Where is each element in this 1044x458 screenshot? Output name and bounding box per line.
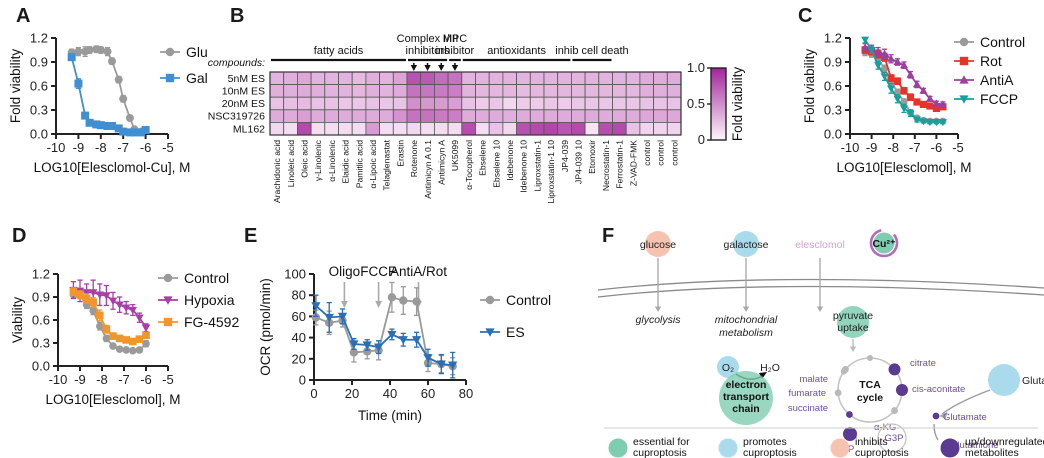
fumarate-label: fumarate bbox=[789, 388, 827, 399]
data-point bbox=[960, 57, 968, 65]
legend-label-line2: cuproptosis bbox=[743, 447, 797, 458]
compounds-label: compounds: bbox=[208, 57, 265, 69]
annotation-label: Oligo bbox=[329, 264, 361, 279]
heatmap-cell bbox=[421, 72, 435, 85]
heatmap-cell bbox=[544, 110, 558, 123]
legend-label: Control bbox=[980, 34, 1025, 50]
heatmap-cell bbox=[380, 122, 394, 135]
svg-text:-8: -8 bbox=[96, 372, 108, 387]
heatmap-cell bbox=[284, 72, 298, 85]
legend-swatch bbox=[609, 439, 628, 458]
heatmap-row-label: 5nM ES bbox=[228, 73, 265, 85]
heatmap-cell bbox=[667, 72, 681, 85]
data-point bbox=[136, 346, 144, 354]
svg-text:40: 40 bbox=[292, 330, 306, 345]
svg-text:-7: -7 bbox=[117, 140, 129, 155]
heatmap-cell bbox=[339, 85, 353, 98]
heatmap-row-label: ML162 bbox=[233, 123, 265, 135]
glutamine-node bbox=[988, 364, 1020, 396]
heatmap-cell bbox=[640, 85, 654, 98]
heatmap-row-label: 20nM ES bbox=[222, 98, 265, 110]
heatmap-cell bbox=[517, 85, 531, 98]
data-point bbox=[960, 38, 968, 46]
heatmap-cell bbox=[476, 97, 490, 110]
panel-f-label: F bbox=[602, 226, 614, 246]
series-Control bbox=[862, 49, 947, 125]
heatmap-cell bbox=[393, 110, 407, 123]
series-line bbox=[316, 306, 453, 365]
heatmap-cell bbox=[325, 97, 339, 110]
o2-label: O₂ bbox=[722, 362, 734, 374]
heatmap-cell bbox=[640, 72, 654, 85]
data-point bbox=[412, 297, 420, 305]
svg-text:80: 80 bbox=[459, 386, 473, 401]
panel-c-chart: 0.00.30.60.91.2-10-9-8-7-6-5Fold viabili… bbox=[790, 0, 1044, 215]
heatmap-cell bbox=[421, 122, 435, 135]
heatmap-cell bbox=[654, 72, 668, 85]
column-arrowhead bbox=[438, 65, 444, 71]
glycolysis-label: glycolysis bbox=[636, 314, 682, 326]
heatmap-cell bbox=[476, 122, 490, 135]
heatmap-cell bbox=[626, 72, 640, 85]
heatmap-cell bbox=[517, 97, 531, 110]
heatmap-cell bbox=[270, 85, 284, 98]
heatmap-row-label: NSC319726 bbox=[208, 111, 265, 123]
heatmap-cell bbox=[448, 97, 462, 110]
svg-text:0.0: 0.0 bbox=[30, 127, 48, 142]
heatmap-cell bbox=[434, 85, 448, 98]
svg-text:60: 60 bbox=[421, 386, 435, 401]
glutamine-label: Glutamine bbox=[1022, 375, 1044, 387]
svg-text:-6: -6 bbox=[931, 140, 943, 155]
heatmap-cell bbox=[654, 110, 668, 123]
heatmap-cell bbox=[311, 97, 325, 110]
group-label: fatty acids bbox=[314, 45, 364, 57]
panel-c: C 0.00.30.60.91.2-10-9-8-7-6-5Fold viabi… bbox=[790, 0, 1044, 215]
data-point bbox=[166, 74, 174, 82]
svg-text:-6: -6 bbox=[140, 372, 152, 387]
svg-text:-10: -10 bbox=[47, 140, 66, 155]
heatmap-col-label: Etomoxir bbox=[587, 140, 597, 174]
panel-c-label: C bbox=[798, 6, 812, 26]
heatmap-cell bbox=[613, 97, 627, 110]
heatmap-col-label: Liproxstatin-1 bbox=[532, 140, 542, 192]
heatmap-cell bbox=[407, 122, 421, 135]
data-point bbox=[104, 48, 112, 56]
heatmap-cell bbox=[667, 122, 681, 135]
heatmap-col-label: Pamitlic acid bbox=[354, 140, 364, 188]
heatmap-cell bbox=[352, 122, 366, 135]
heatmap-cell bbox=[585, 97, 599, 110]
heatmap-cell bbox=[571, 122, 585, 135]
heatmap-cell bbox=[311, 72, 325, 85]
heatmap-cell bbox=[270, 97, 284, 110]
column-arrowhead bbox=[411, 65, 417, 71]
panel-b-label: B bbox=[230, 6, 244, 26]
heatmap-cell bbox=[434, 122, 448, 135]
svg-text:20: 20 bbox=[345, 386, 359, 401]
heatmap-cell bbox=[489, 72, 503, 85]
malate-label: malate bbox=[799, 374, 828, 385]
tca-label-1: TCA bbox=[859, 379, 881, 391]
svg-text:60: 60 bbox=[292, 309, 306, 324]
heatmap-cell bbox=[489, 85, 503, 98]
heatmap-cell bbox=[558, 97, 572, 110]
heatmap-cell bbox=[366, 85, 380, 98]
panel-f-diagram: glucosegalactoseelesclomolCu²⁺glycolysis… bbox=[598, 222, 1044, 458]
x-axis-label: LOG10[Elesclomol], M bbox=[836, 160, 971, 175]
heatmap-cell bbox=[325, 122, 339, 135]
panel-d-label: D bbox=[12, 226, 26, 246]
data-point bbox=[887, 74, 894, 81]
heatmap-cell bbox=[462, 122, 476, 135]
data-point bbox=[142, 324, 150, 332]
etc-label-2: transport bbox=[723, 391, 770, 403]
svg-text:-9: -9 bbox=[74, 372, 86, 387]
svg-text:0.6: 0.6 bbox=[824, 79, 842, 94]
heatmap-col-label: Linoleic acid bbox=[286, 140, 296, 188]
heatmap-col-label: Ebselene 10 bbox=[491, 140, 501, 188]
heatmap-cell bbox=[284, 122, 298, 135]
data-point bbox=[129, 338, 137, 346]
citrate-label: citrate bbox=[910, 358, 936, 369]
heatmap-cell bbox=[654, 85, 668, 98]
pyruvate-label-1: pyruvate bbox=[833, 310, 873, 322]
heatmap-cell bbox=[626, 85, 640, 98]
legend-label: FG-4592 bbox=[184, 314, 239, 330]
data-point bbox=[83, 295, 91, 303]
heatmap-cell bbox=[366, 72, 380, 85]
svg-text:0.9: 0.9 bbox=[32, 290, 50, 305]
heatmap-cell bbox=[530, 72, 544, 85]
heatmap-cell bbox=[352, 97, 366, 110]
heatmap-cell bbox=[585, 85, 599, 98]
data-point bbox=[103, 335, 111, 343]
tca-node bbox=[889, 363, 901, 375]
data-point bbox=[913, 98, 920, 105]
glutathione-arrow bbox=[934, 424, 938, 440]
svg-text:-7: -7 bbox=[909, 140, 921, 155]
tca-node bbox=[867, 355, 873, 361]
legend-label-line2: cuproptosis bbox=[855, 447, 909, 458]
heatmap-cell bbox=[503, 110, 517, 123]
panel-d: D 0.00.30.60.91.2-10-9-8-7-6-5ViabilityL… bbox=[0, 222, 250, 437]
data-point bbox=[74, 80, 82, 88]
data-point bbox=[103, 325, 111, 333]
heatmap-cell bbox=[599, 122, 613, 135]
flow-arrowhead bbox=[817, 307, 823, 313]
heatmap-cell bbox=[284, 97, 298, 110]
svg-text:-5: -5 bbox=[952, 140, 964, 155]
heatmap-cell bbox=[599, 85, 613, 98]
heatmap-cell bbox=[640, 110, 654, 123]
data-point bbox=[920, 101, 927, 108]
svg-text:0.9: 0.9 bbox=[824, 55, 842, 70]
heatmap-cell bbox=[380, 110, 394, 123]
heatmap-col-label: control bbox=[642, 140, 652, 166]
svg-text:100: 100 bbox=[284, 267, 306, 282]
heatmap-cell bbox=[613, 110, 627, 123]
heatmap-cell bbox=[462, 97, 476, 110]
data-point bbox=[76, 291, 84, 299]
heatmap-cell bbox=[366, 110, 380, 123]
legend: ControlHypoxiaFG-4592 bbox=[158, 270, 239, 330]
heatmap-col-label: α-Lipoic acid bbox=[368, 140, 378, 189]
group-label: inhibitor bbox=[436, 45, 475, 57]
legend-label: Control bbox=[506, 292, 551, 308]
heatmap-cell bbox=[544, 122, 558, 135]
glutamate-label: Glutamate bbox=[943, 412, 987, 423]
heatmap-cell bbox=[434, 72, 448, 85]
heatmap-cell bbox=[489, 97, 503, 110]
data-point bbox=[164, 274, 172, 282]
heatmap-cell bbox=[339, 72, 353, 85]
panel-f: F glucosegalactoseelesclomolCu²⁺glycolys… bbox=[598, 222, 1044, 458]
legend-label: FCCP bbox=[980, 91, 1018, 107]
svg-text:0: 0 bbox=[310, 386, 317, 401]
legend-swatch bbox=[831, 439, 850, 458]
heatmap-cell bbox=[544, 72, 558, 85]
column-arrowhead bbox=[452, 65, 458, 71]
heatmap-cell bbox=[284, 110, 298, 123]
heatmap-cell bbox=[297, 122, 311, 135]
data-point bbox=[129, 347, 137, 355]
heatmap-cell bbox=[544, 97, 558, 110]
heatmap-cell bbox=[503, 122, 517, 135]
svg-text:-10: -10 bbox=[841, 140, 860, 155]
heatmap-cell bbox=[613, 122, 627, 135]
heatmap-cell bbox=[667, 85, 681, 98]
panel-a-chart: 0.00.30.60.91.2-10-9-8-7-6-5Fold viabili… bbox=[0, 0, 230, 215]
heatmap-col-label: control bbox=[656, 140, 666, 166]
y-axis-label: OCR (pmol/min) bbox=[258, 278, 273, 376]
data-point bbox=[894, 78, 901, 85]
membrane-inner bbox=[598, 286, 1044, 297]
svg-text:-5: -5 bbox=[162, 140, 174, 155]
heatmap-cell bbox=[517, 110, 531, 123]
heatmap-cell bbox=[393, 85, 407, 98]
heatmap-col-label: γ-Linolenic bbox=[313, 139, 323, 181]
data-point bbox=[122, 336, 130, 344]
data-point bbox=[68, 53, 76, 61]
svg-text:-9: -9 bbox=[73, 140, 85, 155]
svg-text:0.9: 0.9 bbox=[30, 55, 48, 70]
data-point bbox=[119, 95, 127, 103]
x-axis-label: LOG10[Elesclomol-Cu], M bbox=[34, 160, 191, 175]
heatmap-col-label: Arachidonic acid bbox=[272, 140, 282, 203]
flow-arrowhead bbox=[655, 307, 661, 313]
data-point bbox=[109, 342, 117, 350]
heatmap-cell bbox=[325, 85, 339, 98]
data-point bbox=[926, 102, 933, 109]
heatmap-cell bbox=[284, 85, 298, 98]
heatmap-cell bbox=[626, 122, 640, 135]
mito-label-1: mitochondrial bbox=[715, 314, 778, 326]
legend-label: Control bbox=[184, 270, 229, 286]
heatmap-cell bbox=[571, 110, 585, 123]
heatmap-cell bbox=[311, 110, 325, 123]
heatmap-cell bbox=[297, 97, 311, 110]
svg-text:0: 0 bbox=[299, 373, 306, 388]
heatmap-cell bbox=[421, 110, 435, 123]
heatmap-cell bbox=[571, 97, 585, 110]
heatmap-cell bbox=[311, 122, 325, 135]
heatmap-cell bbox=[667, 110, 681, 123]
heatmap-cell bbox=[325, 72, 339, 85]
heatmap-cell bbox=[407, 110, 421, 123]
membrane-outer bbox=[598, 279, 1044, 290]
data-point bbox=[108, 57, 116, 65]
flow-arrowhead bbox=[850, 347, 856, 353]
panel-e-chart: 020406080100020406080OCR (pmol/min)Time … bbox=[242, 222, 597, 440]
heatmap-cell bbox=[626, 97, 640, 110]
heatmap-cell bbox=[476, 110, 490, 123]
panel-a-label: A bbox=[16, 6, 30, 26]
data-point bbox=[881, 73, 889, 80]
colorbar-tick-label: 1.0 bbox=[687, 60, 705, 75]
heatmap-cell bbox=[297, 72, 311, 85]
svg-text:-9: -9 bbox=[866, 140, 878, 155]
etc-label-1: electron bbox=[726, 379, 767, 391]
panel-b: B 5nM ES10nM ES20nM ESNSC319726ML162comp… bbox=[226, 0, 812, 228]
svg-text:1.2: 1.2 bbox=[824, 31, 842, 46]
elesclomol-label: elesclomol bbox=[795, 239, 845, 251]
heatmap-cell bbox=[393, 72, 407, 85]
data-point bbox=[136, 335, 144, 343]
svg-text:0.3: 0.3 bbox=[32, 336, 50, 351]
data-point bbox=[70, 288, 78, 296]
tca-node bbox=[891, 407, 898, 414]
heatmap-col-label: Idebenone 10 bbox=[519, 140, 529, 193]
heatmap-cell bbox=[530, 97, 544, 110]
svg-text:0.3: 0.3 bbox=[30, 103, 48, 118]
data-point bbox=[115, 76, 123, 84]
heatmap-cell bbox=[503, 72, 517, 85]
group-label: MPC bbox=[443, 33, 468, 45]
heatmap-cell bbox=[339, 122, 353, 135]
heatmap-col-label: Idebenone bbox=[505, 140, 515, 181]
galactose-label: galactose bbox=[724, 239, 769, 251]
h2o-label: H₂O bbox=[760, 362, 780, 374]
svg-text:0.6: 0.6 bbox=[32, 313, 50, 328]
heatmap-cell bbox=[558, 122, 572, 135]
data-point bbox=[900, 87, 907, 94]
data-point bbox=[89, 299, 97, 307]
svg-text:-6: -6 bbox=[140, 140, 152, 155]
heatmap-col-label: Liproxstatin-1 10 bbox=[546, 140, 556, 204]
x-axis-label: Time (min) bbox=[358, 408, 422, 423]
group-label: antioxidants bbox=[487, 45, 546, 57]
data-point bbox=[399, 296, 407, 304]
y-axis-label: Fold viability bbox=[802, 49, 817, 124]
heatmap-cell bbox=[462, 110, 476, 123]
heatmap-cell bbox=[352, 85, 366, 98]
heatmap-cell bbox=[530, 85, 544, 98]
heatmap-cell bbox=[270, 122, 284, 135]
legend-label: Gal bbox=[186, 70, 208, 86]
data-point bbox=[486, 296, 494, 304]
series-line bbox=[72, 57, 146, 132]
colorbar-title: Fold viability bbox=[730, 67, 745, 142]
heatmap-cell bbox=[462, 85, 476, 98]
heatmap-cell bbox=[640, 122, 654, 135]
heatmap-col-label: α-Tocopherol bbox=[464, 140, 474, 190]
tca-node bbox=[841, 369, 847, 375]
heatmap-cell bbox=[585, 122, 599, 135]
svg-text:-10: -10 bbox=[49, 372, 68, 387]
heatmap-cell bbox=[462, 72, 476, 85]
heatmap-cell bbox=[667, 97, 681, 110]
heatmap-cell bbox=[270, 72, 284, 85]
heatmap-col-label: Elaidic acid bbox=[341, 140, 351, 184]
heatmap-col-label: Antimicyn A 0.1 bbox=[423, 140, 433, 199]
heatmap-cell bbox=[517, 72, 531, 85]
svg-text:0.0: 0.0 bbox=[824, 127, 842, 142]
flow-arrowhead bbox=[743, 307, 749, 313]
data-point bbox=[122, 346, 130, 354]
tca-label-2: cycle bbox=[857, 392, 883, 404]
heatmap-cell bbox=[585, 110, 599, 123]
heatmap-cell bbox=[421, 85, 435, 98]
heatmap-cell bbox=[613, 85, 627, 98]
legend-label: Glu bbox=[186, 44, 208, 60]
annotation-arrowhead bbox=[341, 301, 348, 308]
cis-aconitate-label: cis-aconitate bbox=[912, 384, 965, 395]
heatmap-cell bbox=[297, 85, 311, 98]
y-axis-label: Fold viability bbox=[8, 49, 23, 124]
heatmap-col-label: Ebselene bbox=[478, 140, 488, 176]
heatmap-cell bbox=[599, 97, 613, 110]
data-point bbox=[388, 293, 396, 301]
panel-a: A 0.00.30.60.91.2-10-9-8-7-6-5Fold viabi… bbox=[0, 0, 230, 215]
heatmap-col-label: control bbox=[669, 140, 679, 166]
legend-label-line2: cuproptosis bbox=[633, 447, 687, 458]
heatmap-cell bbox=[393, 122, 407, 135]
data-point bbox=[164, 318, 172, 326]
heatmap-cell bbox=[489, 122, 503, 135]
heatmap-cell bbox=[407, 85, 421, 98]
heatmap-cell bbox=[380, 97, 394, 110]
heatmap-col-label: UK5099 bbox=[450, 140, 460, 171]
legend-label: Rot bbox=[980, 53, 1002, 69]
legend-swatch bbox=[941, 439, 960, 458]
heatmap-cell bbox=[476, 85, 490, 98]
series-ES bbox=[311, 295, 457, 378]
heatmap-col-label: Oleic acid bbox=[299, 140, 309, 178]
heatmap-col-label: Necrostatin-1 bbox=[601, 140, 611, 191]
heatmap-cell bbox=[599, 72, 613, 85]
heatmap-cell bbox=[558, 72, 572, 85]
heatmap-cell bbox=[339, 97, 353, 110]
heatmap-cell bbox=[585, 72, 599, 85]
heatmap-cell bbox=[613, 72, 627, 85]
heatmap-cell bbox=[380, 72, 394, 85]
data-point bbox=[96, 312, 104, 320]
heatmap-cell bbox=[503, 85, 517, 98]
data-point bbox=[109, 332, 117, 340]
heatmap-cell bbox=[325, 110, 339, 123]
heatmap-cell bbox=[654, 122, 668, 135]
heatmap-col-label: Telaglenastat bbox=[382, 139, 392, 190]
heatmap-col-label: JP4-039 bbox=[560, 140, 570, 172]
legend: ControlES bbox=[480, 292, 551, 340]
svg-text:-7: -7 bbox=[118, 372, 130, 387]
annotation-label: AntiA/Rot bbox=[390, 264, 447, 279]
data-point bbox=[142, 126, 150, 134]
data-point bbox=[166, 48, 174, 56]
data-point bbox=[96, 322, 104, 330]
tca-node bbox=[896, 384, 908, 396]
